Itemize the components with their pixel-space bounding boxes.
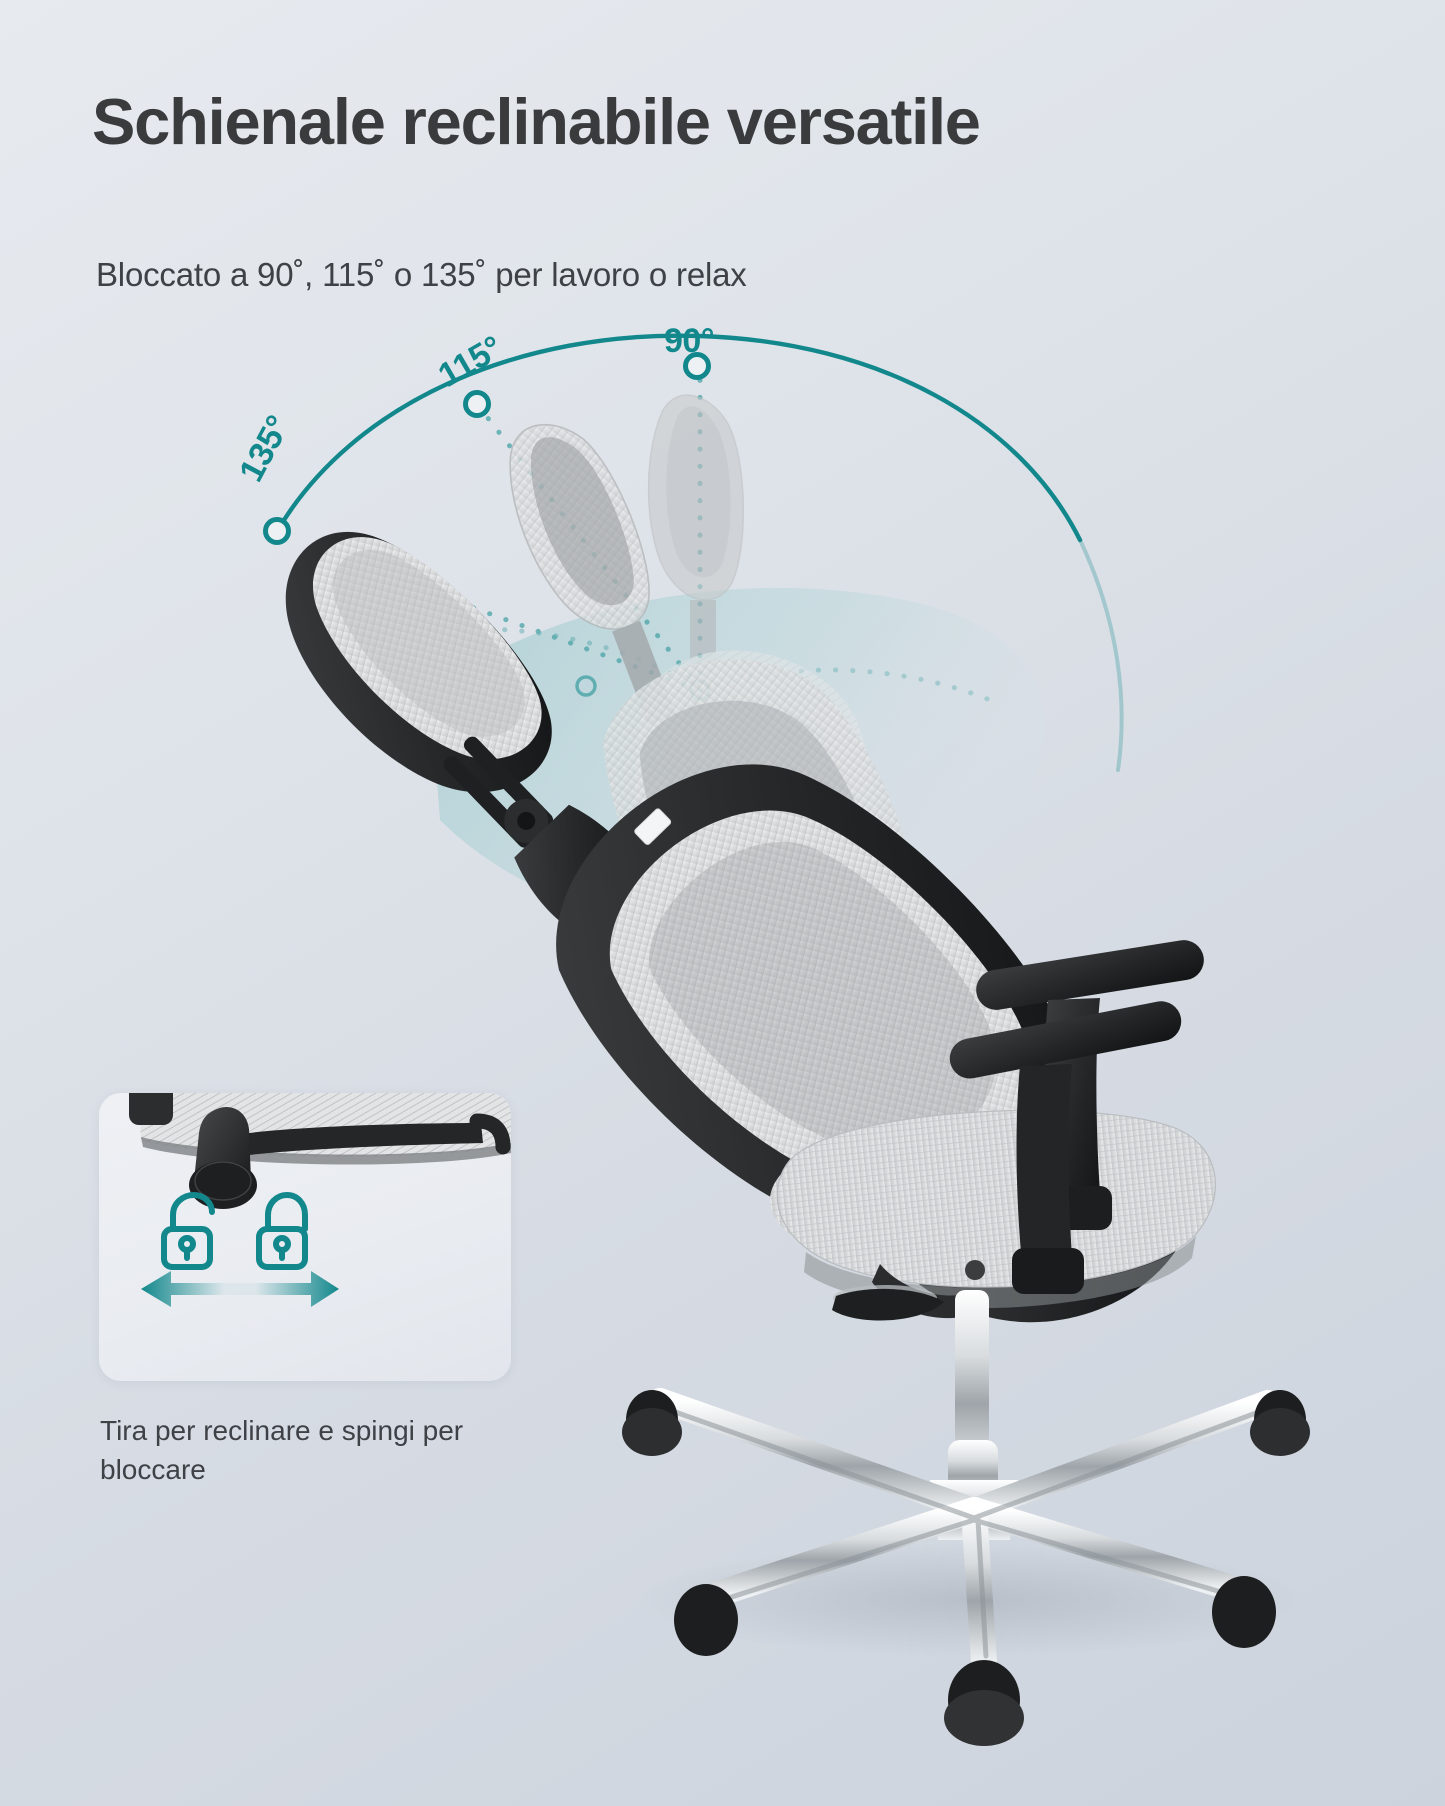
unlock-icon (164, 1195, 212, 1267)
product-illustration (0, 0, 1445, 1806)
lever-detail-card (99, 1093, 511, 1381)
lever-detail-illustration (99, 1093, 511, 1381)
chair-base (622, 1290, 1310, 1746)
angle-stop-markers (266, 355, 709, 543)
double-arrow-icon (141, 1271, 339, 1307)
lock-icon (259, 1195, 305, 1267)
inset-caption: Tira per reclinare e spingi per bloccare (100, 1412, 480, 1489)
seat-cushion (770, 1110, 1215, 1308)
marketing-banner: Schienale reclinabile versatile Bloccato… (0, 0, 1445, 1806)
